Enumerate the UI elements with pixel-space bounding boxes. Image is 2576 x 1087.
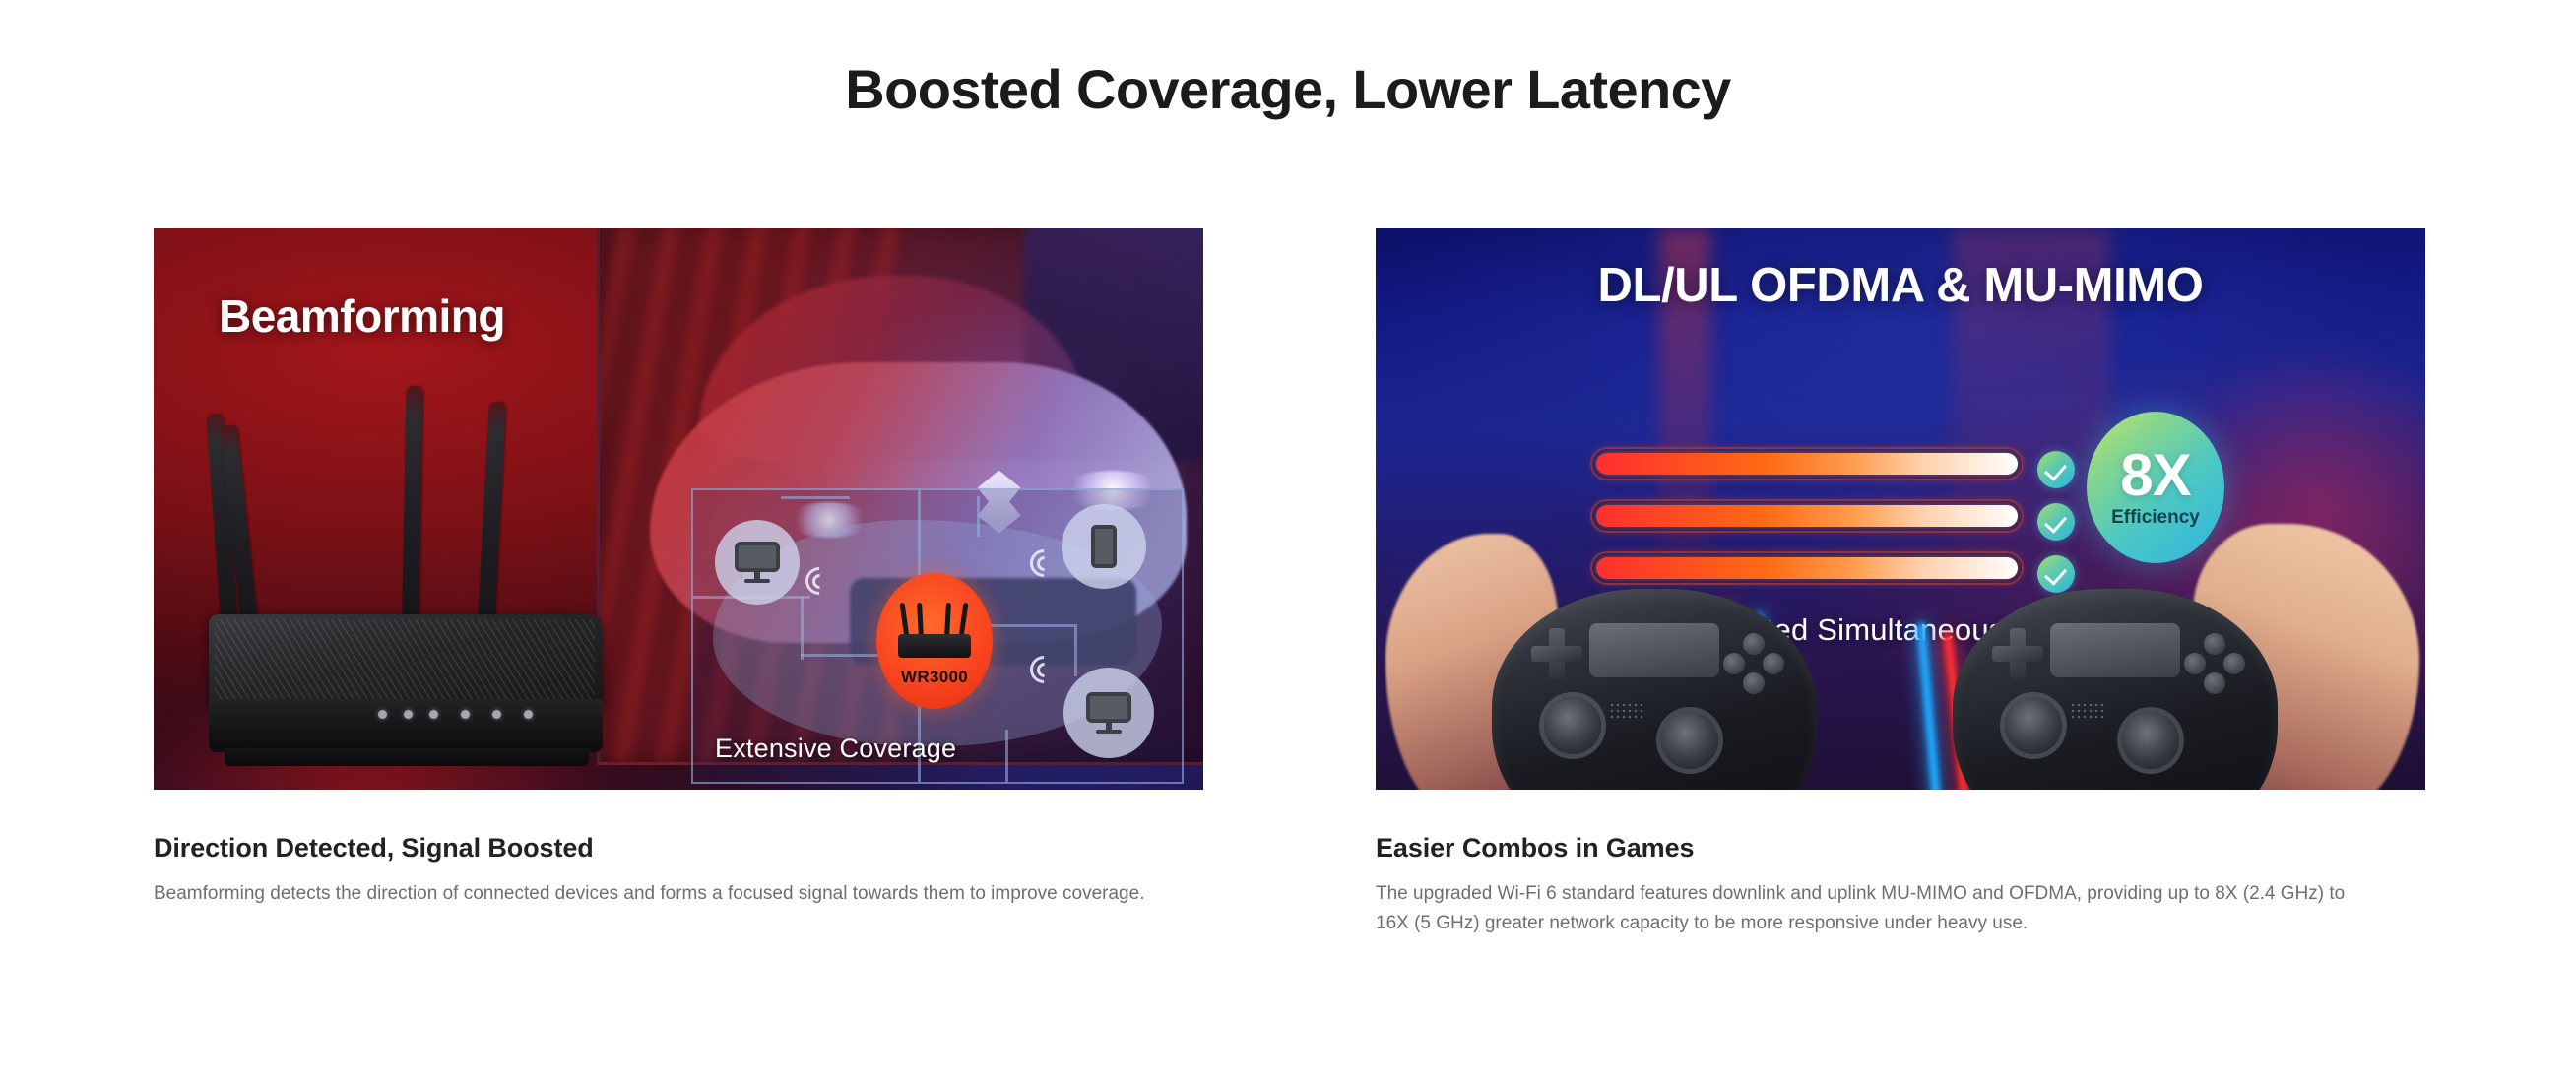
coverage-caption: Extensive Coverage <box>715 734 956 764</box>
router-front-panel <box>209 699 603 752</box>
feature-card-grid: Beamforming <box>154 228 2426 849</box>
connected-device-monitor <box>715 520 800 605</box>
router-led <box>461 710 470 719</box>
analog-stick <box>1661 712 1718 769</box>
gamepad-left <box>1492 589 1817 790</box>
beamforming-image: Beamforming <box>154 228 1203 790</box>
coverage-router-badge: WR3000 <box>876 573 993 709</box>
router-vent-mesh <box>215 619 595 701</box>
card-heading: Direction Detected, Signal Boosted <box>154 832 1203 863</box>
router-device <box>209 343 632 766</box>
beamforming-overlay-title: Beamforming <box>219 289 505 343</box>
wifi-signal-icon <box>1028 547 1062 581</box>
router-led <box>492 710 501 719</box>
gamepad-speaker <box>1609 702 1644 720</box>
wall-segment <box>801 654 878 657</box>
feature-card-beamforming: Beamforming <box>154 228 1203 909</box>
gamepad-touchpad <box>1589 623 1719 677</box>
wifi-signal-icon <box>804 565 837 599</box>
feature-section: Boosted Coverage, Lower Latency <box>0 0 2576 1087</box>
wall-segment <box>801 596 804 660</box>
face-buttons-icon <box>2184 633 2245 694</box>
wall-segment <box>1074 624 1077 676</box>
connected-device-phone <box>1062 504 1146 589</box>
router-icon <box>894 599 975 664</box>
ofdma-gaming-image: DL/UL OFDMA & MU-MIMO 8X Efficiency Tran… <box>1376 228 2425 790</box>
analog-stick <box>2005 697 2062 754</box>
wall-segment <box>781 496 849 499</box>
monitor-icon <box>1086 692 1131 734</box>
router-led <box>378 710 387 719</box>
page-title: Boosted Coverage, Lower Latency <box>0 57 2576 121</box>
card-heading: Easier Combos in Games <box>1376 832 2425 863</box>
phone-icon <box>1091 525 1117 568</box>
gamepads-photo <box>1376 494 2425 790</box>
wall-segment <box>1005 730 1008 782</box>
stream-bar-fill <box>1596 453 2018 475</box>
router-led <box>524 710 533 719</box>
gamepad-right <box>1953 589 2278 790</box>
stream-bar <box>1590 447 2024 480</box>
wall-segment <box>977 496 980 537</box>
gamepad-touchpad <box>2050 623 2180 677</box>
connected-device-monitor <box>1063 668 1154 758</box>
dpad-icon <box>1531 628 1582 679</box>
card-description: The upgraded Wi-Fi 6 standard features d… <box>1376 879 2360 938</box>
face-buttons-icon <box>1723 633 1784 694</box>
router-led <box>429 710 438 719</box>
dpad-icon <box>1992 628 2043 679</box>
feature-card-ofdma: DL/UL OFDMA & MU-MIMO 8X Efficiency Tran… <box>1376 228 2425 938</box>
router-led <box>404 710 413 719</box>
wifi-signal-icon <box>1028 654 1062 687</box>
router-model-label: WR3000 <box>876 668 993 687</box>
analog-stick <box>1544 697 1601 754</box>
ofdma-overlay-title: DL/UL OFDMA & MU-MIMO <box>1376 258 2425 313</box>
check-icon <box>2037 451 2075 488</box>
analog-stick <box>2122 712 2179 769</box>
neon-edge-blue <box>1916 622 1942 790</box>
gamepad-speaker <box>2070 702 2105 720</box>
router-top-shell <box>209 614 603 709</box>
card-description: Beamforming detects the direction of con… <box>154 879 1148 909</box>
monitor-icon <box>735 542 780 583</box>
router-base <box>225 748 589 766</box>
coverage-floorplan-diagram: WR3000 Extensive Coverage <box>691 488 1184 784</box>
